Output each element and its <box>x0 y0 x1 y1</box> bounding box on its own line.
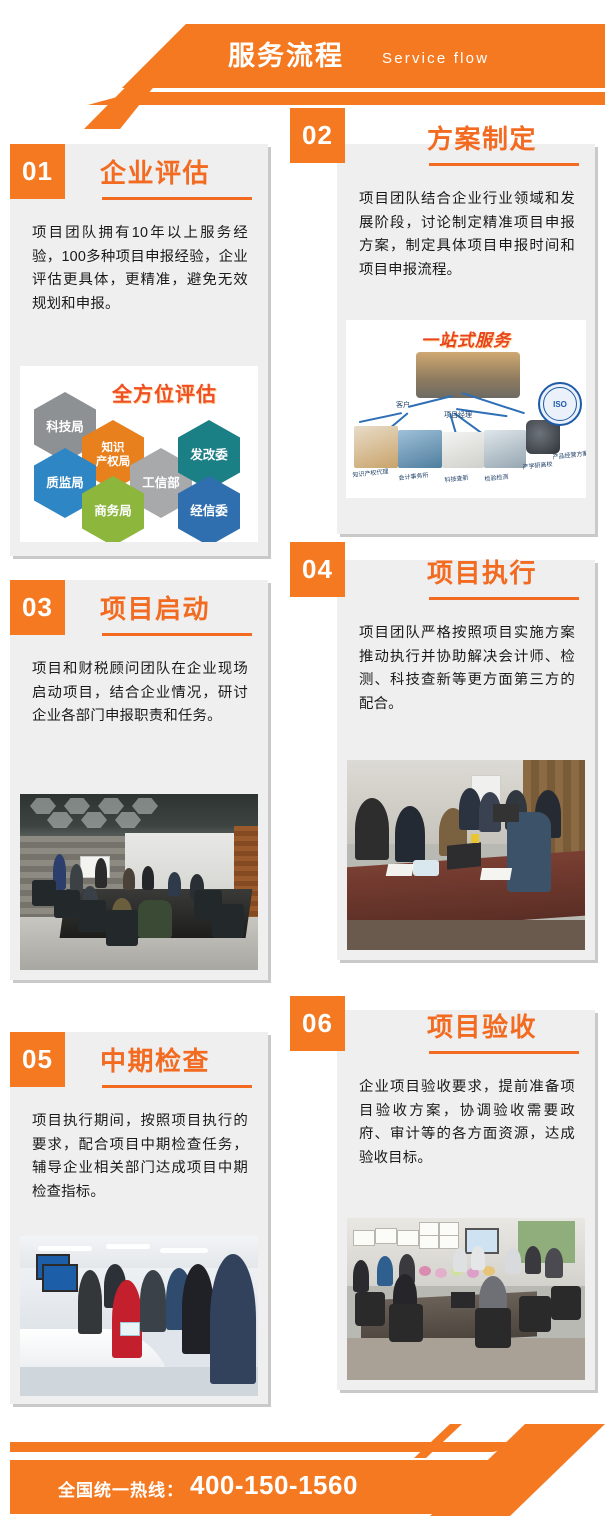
one-stop-node-label-3: 检验检测 <box>484 471 509 482</box>
one-stop-node-label-0: 知识产权代理 <box>352 466 389 479</box>
person <box>505 1248 521 1274</box>
iso-seal-icon: ISO <box>538 382 582 426</box>
chair <box>106 910 138 946</box>
step-description-06: 企业项目验收要求，提前准备项目验收方案，协调验收需要政府、审计等的各方面资源，达… <box>359 1076 575 1170</box>
step-title-06: 项目验收 <box>427 1010 537 1044</box>
page-title: 服务流程 <box>228 34 344 78</box>
person <box>377 1256 393 1286</box>
step-title-rule-02 <box>429 163 579 166</box>
step-card-04[interactable]: 04 项目执行 项目团队严格按照项目实施方案推动执行并协助解决会计师、检测、科技… <box>337 560 595 960</box>
ceiling-light <box>106 1244 150 1249</box>
photo-meeting-room <box>20 794 258 970</box>
step-title-rule-04 <box>429 597 579 600</box>
person <box>459 788 481 830</box>
certificate-frame <box>439 1235 459 1249</box>
page-subtitle: Service flow <box>382 44 489 74</box>
person <box>355 798 389 860</box>
hex-node-label-3: 工信部 <box>142 476 180 490</box>
step-title-rule-05 <box>102 1085 252 1088</box>
hex-node-label-6: 经信委 <box>190 504 228 518</box>
step-card-03[interactable]: 03 项目启动 项目和财税顾问团队在企业现场启动项目，结合企业情况，研讨企业各部… <box>10 580 268 980</box>
hex-node-label-0: 科技局 <box>46 420 84 434</box>
iso-seal-label: ISO <box>553 400 567 409</box>
photo-working-session <box>347 760 585 950</box>
person <box>545 1248 563 1278</box>
person <box>507 812 551 892</box>
person <box>140 1270 166 1332</box>
ceiling-light <box>160 1248 208 1253</box>
one-stop-service-chart: 一站式服务 客户 项目经理 <box>346 320 586 498</box>
page-header: 服务流程 Service flow <box>0 0 605 110</box>
person <box>142 866 154 890</box>
certificate-frame <box>353 1230 375 1246</box>
step-card-01[interactable]: 01 企业评估 项目团队拥有10年以上服务经验，100多种项目申报经验，企业评估… <box>10 144 268 556</box>
one-stop-node-label-4: 产学研高校 <box>522 459 553 471</box>
page-footer: 全国统一热线： 400-150-1560 <box>0 1418 605 1538</box>
hexagon-chart: 全方位评估 科技局 知识 产权局 质监局 工信部 商务局 发改委 <box>20 366 258 542</box>
chair <box>389 1304 423 1342</box>
hex-node-label-5: 发改委 <box>190 448 228 462</box>
person <box>138 900 172 938</box>
one-stop-node-label-2: 科技查新 <box>444 472 469 483</box>
floor <box>347 920 585 950</box>
footer-diagonal-thin <box>414 1424 474 1458</box>
person <box>78 1270 102 1334</box>
certificate-frame <box>375 1228 397 1244</box>
paper <box>386 864 415 876</box>
person <box>395 806 425 862</box>
step-description-05: 项目执行期间，按照项目执行的要求，配合项目中期检查任务，辅导企业相关部门达成项目… <box>32 1110 248 1204</box>
hex-node-label-2: 质监局 <box>46 476 84 490</box>
flower-arrangement <box>419 1266 431 1276</box>
hotline-phone[interactable]: 400-150-1560 <box>190 1470 358 1501</box>
laptop <box>451 1292 475 1308</box>
step-card-02[interactable]: 02 方案制定 项目团队结合企业行业领域和发展阶段，讨论制定精准项目申报方案，制… <box>337 144 595 534</box>
step-description-03: 项目和财税顾问团队在企业现场启动项目，结合企业情况，研讨企业各部门申报职责和任务… <box>32 658 248 729</box>
step-number-badge-04: 04 <box>290 542 345 597</box>
step-title-rule-01 <box>102 197 252 200</box>
hotline-label: 全国统一热线： <box>58 1476 184 1501</box>
equipment <box>413 860 439 876</box>
person <box>168 872 181 896</box>
hex-node-label-1: 知识 产权局 <box>96 441 131 469</box>
chair <box>551 1286 581 1320</box>
one-stop-node-0 <box>354 426 398 468</box>
footer-thin-stripe <box>10 1442 530 1452</box>
person <box>453 1248 467 1272</box>
laptop <box>447 842 481 870</box>
step-title-05: 中期检查 <box>100 1044 210 1078</box>
step-number-badge-01: 01 <box>10 144 65 199</box>
header-orange-bar <box>122 24 605 88</box>
brochure <box>120 1322 140 1336</box>
service-flow-poster: 服务流程 Service flow 01 企业评估 项目团队拥有10年以上服务经… <box>0 0 605 1538</box>
person <box>95 858 107 888</box>
laptop <box>493 804 519 822</box>
step-description-04: 项目团队严格按照项目实施方案推动执行并协助解决会计师、检测、科技查新等更方面第三… <box>359 622 575 716</box>
step-title-rule-03 <box>102 633 252 636</box>
step-title-01: 企业评估 <box>100 156 210 190</box>
step-title-02: 方案制定 <box>427 122 537 156</box>
photo-boardroom <box>347 1218 585 1380</box>
step-card-05[interactable]: 05 中期检查 项目执行期间，按照项目执行的要求，配合项目中期检查任务，辅导企业… <box>10 1032 268 1404</box>
ceiling-light <box>38 1246 92 1251</box>
certificate-frame <box>439 1222 459 1236</box>
step-number-badge-03: 03 <box>10 580 65 635</box>
photo-lobby-visit <box>20 1236 258 1396</box>
flower-arrangement <box>435 1268 447 1278</box>
sticky-note <box>471 834 479 843</box>
person-red-coat <box>112 1280 142 1358</box>
certificate-frame <box>419 1235 439 1249</box>
chair <box>54 890 80 918</box>
hexagon-chart-title: 全方位评估 <box>112 378 217 407</box>
one-stop-center-label-1: 项目经理 <box>444 410 472 420</box>
person <box>353 1260 369 1292</box>
person <box>471 1246 485 1270</box>
one-stop-node-label-1: 会计事务所 <box>398 470 429 482</box>
one-stop-center-photo <box>416 352 520 398</box>
one-stop-center-label-0: 客户 <box>396 400 410 410</box>
floor <box>347 1338 585 1380</box>
person <box>123 868 135 890</box>
step-title-04: 项目执行 <box>427 556 537 590</box>
step-number-badge-06: 06 <box>290 996 345 1051</box>
step-title-03: 项目启动 <box>100 592 210 626</box>
one-stop-chart-title: 一站式服务 <box>421 326 511 351</box>
step-card-06[interactable]: 06 项目验收 企业项目验收要求，提前准备项目验收方案，协调验收需要政府、审计等… <box>337 1010 595 1390</box>
header-thin-stripe <box>88 92 605 105</box>
chair <box>78 900 106 932</box>
certificate-frame <box>397 1230 419 1246</box>
one-stop-node-1 <box>398 430 442 468</box>
chair <box>355 1292 385 1326</box>
hex-node-label-4: 商务局 <box>94 504 132 518</box>
step-number-badge-02: 02 <box>290 108 345 163</box>
step-title-rule-06 <box>429 1051 579 1054</box>
display-screen <box>42 1264 78 1292</box>
person <box>525 1246 541 1274</box>
chair <box>519 1296 551 1332</box>
paper <box>480 868 512 880</box>
chair <box>212 904 244 938</box>
one-stop-node-3 <box>484 430 526 468</box>
certificate-frame <box>419 1222 439 1236</box>
chair <box>475 1308 511 1348</box>
person <box>210 1254 256 1384</box>
chair <box>32 880 56 906</box>
step-description-01: 项目团队拥有10年以上服务经验，100多种项目申报经验，企业评估更具体，更精准，… <box>32 222 248 316</box>
step-number-badge-05: 05 <box>10 1032 65 1087</box>
one-stop-node-2 <box>442 432 484 468</box>
step-description-02: 项目团队结合企业行业领域和发展阶段，讨论制定精准项目申报方案，制定具体项目申报时… <box>359 188 575 282</box>
